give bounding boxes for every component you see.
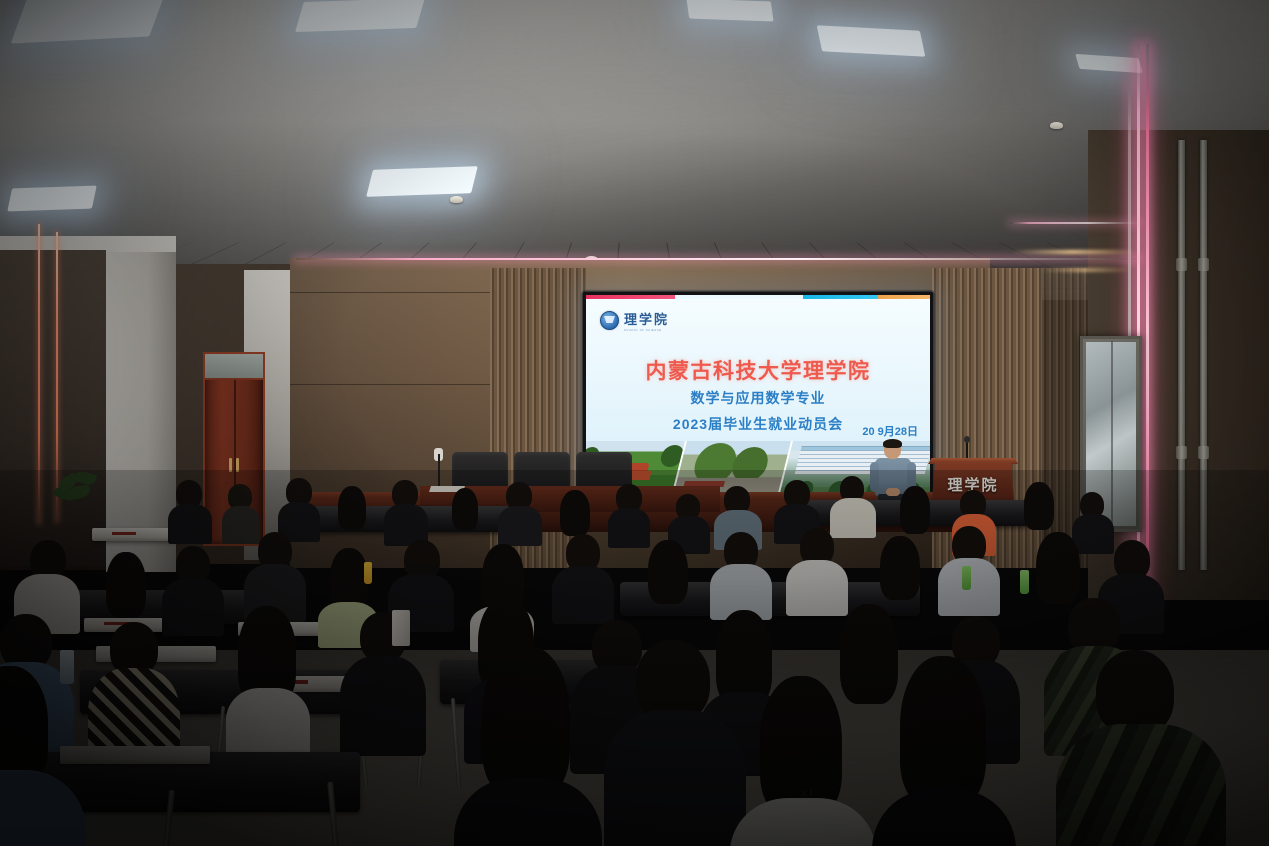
- thermos-cup: [392, 610, 410, 646]
- ceiling-panel-light: [366, 166, 478, 197]
- colorbar-segment-cyan: [803, 295, 879, 299]
- college-emblem-icon: [600, 311, 619, 330]
- door-transom-window: [205, 354, 263, 380]
- ceiling-panel-light: [7, 186, 97, 212]
- pipe-joint: [1198, 258, 1209, 271]
- led-strip-horizontal: [1010, 222, 1140, 224]
- lecture-hall-photo: 理学院 SCHOOL OF SCIENCE 内蒙古科技大学理学院 数学与应用数学…: [0, 0, 1269, 846]
- slide-logo-text: 理学院: [624, 309, 669, 328]
- colorbar-segment-orange: [878, 295, 930, 299]
- slide-title: 内蒙古科技大学理学院: [586, 355, 930, 385]
- cove-light-warm: [1040, 268, 1128, 272]
- slide-subtitle-major: 数学与应用数学专业: [586, 388, 930, 408]
- ceiling-panel-light: [686, 0, 773, 21]
- drink-bottle: [364, 562, 372, 584]
- pipe-joint: [1198, 446, 1209, 459]
- presenter-hair: [883, 439, 902, 448]
- colorbar-segment-white: [675, 295, 802, 299]
- audience-area: XI: [0, 470, 1269, 846]
- smoke-detector-icon: [1050, 122, 1063, 129]
- desk-edge: [112, 532, 136, 535]
- cove-light-warm: [1012, 250, 1132, 254]
- tshirt-text: XI: [800, 788, 840, 810]
- slide-logo: 理学院 SCHOOL OF SCIENCE: [600, 309, 669, 332]
- ceiling-panel-light: [295, 0, 425, 32]
- water-bottle: [60, 650, 74, 684]
- fold-desk: [60, 746, 210, 764]
- drink-bottle: [962, 566, 971, 590]
- drink-bottle: [1020, 570, 1029, 594]
- slide-top-colorbar: [586, 295, 930, 299]
- smoke-detector-icon: [450, 196, 463, 203]
- ceiling-shading: [0, 0, 1269, 300]
- slide-date: 20 9月28日: [862, 423, 918, 439]
- led-strip-horizontal: [296, 258, 1140, 260]
- pipe-joint: [1176, 258, 1187, 271]
- pipe-joint: [1176, 446, 1187, 459]
- colorbar-segment-pink: [586, 295, 675, 299]
- suspended-ceiling: [0, 0, 1269, 300]
- slide-logo-subtext: SCHOOL OF SCIENCE: [624, 329, 669, 332]
